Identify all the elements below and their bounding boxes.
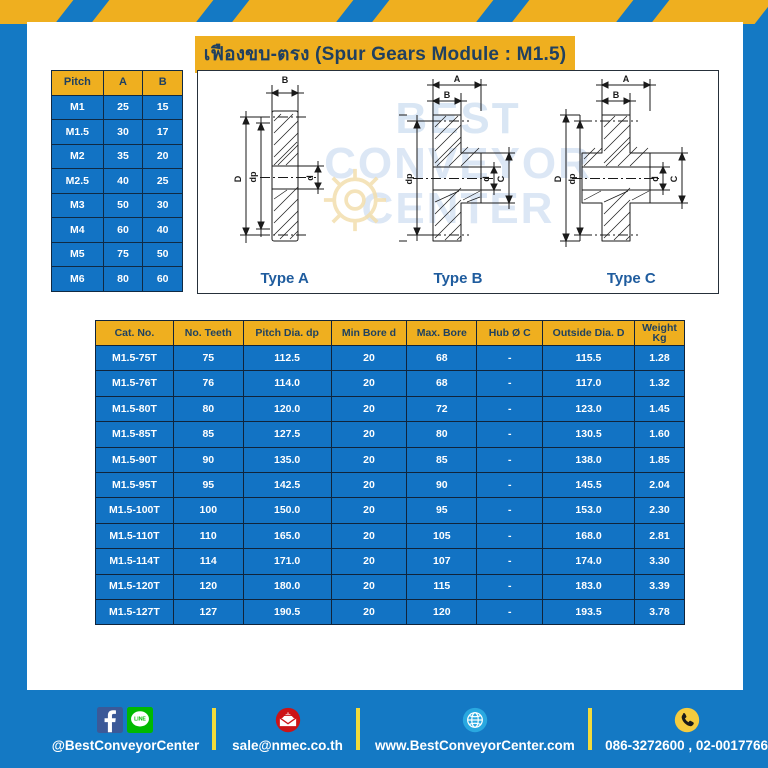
table-row: M1.5-85T 85 127.5 20 80 - 130.5 1.60 bbox=[96, 422, 685, 447]
email-icon[interactable] bbox=[275, 707, 301, 733]
cell-pitch-dia: 114.0 bbox=[243, 371, 331, 396]
pitch-col-a: A bbox=[103, 71, 143, 96]
cell-max-bore: 120 bbox=[407, 599, 477, 624]
table-row: M1.5-114T 114 171.0 20 107 - 174.0 3.30 bbox=[96, 549, 685, 574]
svg-text:B: B bbox=[444, 90, 451, 100]
table-row: M1.5-127T 127 190.5 20 120 - 193.5 3.78 bbox=[96, 599, 685, 624]
cell-outside-dia: 183.0 bbox=[543, 574, 635, 599]
cell-no-teeth: 127 bbox=[173, 599, 243, 624]
col-max-bore: Max. Bore bbox=[407, 321, 477, 346]
cell-min-bore: 20 bbox=[331, 498, 407, 523]
cell-outside-dia: 123.0 bbox=[543, 396, 635, 421]
table-row: M2 35 20 bbox=[52, 144, 183, 169]
cell-min-bore: 20 bbox=[331, 447, 407, 472]
cell-pitch: M2 bbox=[52, 144, 104, 169]
svg-text:D: D bbox=[233, 175, 243, 182]
svg-text:C: C bbox=[669, 175, 679, 182]
col-pitch-dia: Pitch Dia. dp bbox=[243, 321, 331, 346]
spec-header-row: Cat. No. No. Teeth Pitch Dia. dp Min Bor… bbox=[96, 321, 685, 346]
diagram-label-type-a: Type A bbox=[198, 270, 371, 287]
gear-diagram-panel: BEST CONVEYOR CENTER bbox=[197, 70, 719, 294]
website-label[interactable]: www.BestConveyorCenter.com bbox=[375, 738, 575, 753]
cell-pitch: M3 bbox=[52, 193, 104, 218]
diagram-label-type-c: Type C bbox=[545, 270, 718, 287]
cell-max-bore: 90 bbox=[407, 472, 477, 497]
cell-weight: 2.30 bbox=[634, 498, 684, 523]
website-group[interactable]: www.BestConveyorCenter.com bbox=[375, 705, 575, 753]
phone-icons bbox=[674, 705, 700, 735]
table-row: M1.5 30 17 bbox=[52, 120, 183, 145]
spec-table: Cat. No. No. Teeth Pitch Dia. dp Min Bor… bbox=[95, 320, 685, 625]
cell-b: 40 bbox=[143, 218, 183, 243]
cell-weight: 1.32 bbox=[634, 371, 684, 396]
cell-min-bore: 20 bbox=[331, 523, 407, 548]
content-card: เฟืองขบ-ตรง (Spur Gears Module : M1.5) P… bbox=[27, 22, 743, 690]
datasheet-page: เฟืองขบ-ตรง (Spur Gears Module : M1.5) P… bbox=[0, 0, 768, 768]
email-icons bbox=[275, 705, 301, 735]
table-row: M1.5-90T 90 135.0 20 85 - 138.0 1.85 bbox=[96, 447, 685, 472]
cell-a: 80 bbox=[103, 267, 143, 292]
cell-no-teeth: 75 bbox=[173, 346, 243, 371]
col-min-bore: Min Bore d bbox=[331, 321, 407, 346]
table-row: M1.5-75T 75 112.5 20 68 - 115.5 1.28 bbox=[96, 346, 685, 371]
table-row: M1.5-80T 80 120.0 20 72 - 123.0 1.45 bbox=[96, 396, 685, 421]
social-group[interactable]: LINE @BestConveyorCenter bbox=[52, 705, 199, 753]
cell-pitch-dia: 142.5 bbox=[243, 472, 331, 497]
pitch-col-pitch: Pitch bbox=[52, 71, 104, 96]
svg-text:B: B bbox=[281, 75, 288, 85]
table-row: M1.5-76T 76 114.0 20 68 - 117.0 1.32 bbox=[96, 371, 685, 396]
cell-hub-c: - bbox=[477, 396, 543, 421]
cell-weight: 1.28 bbox=[634, 346, 684, 371]
cell-hub-c: - bbox=[477, 523, 543, 548]
cell-weight: 1.60 bbox=[634, 422, 684, 447]
cell-b: 30 bbox=[143, 193, 183, 218]
footer-divider bbox=[356, 708, 360, 750]
cell-a: 60 bbox=[103, 218, 143, 243]
cell-weight: 1.85 bbox=[634, 447, 684, 472]
cell-cat-no: M1.5-100T bbox=[96, 498, 174, 523]
cell-cat-no: M1.5-75T bbox=[96, 346, 174, 371]
svg-text:dp: dp bbox=[248, 171, 258, 182]
cell-b: 60 bbox=[143, 267, 183, 292]
table-row: M2.5 40 25 bbox=[52, 169, 183, 194]
cell-cat-no: M1.5-110T bbox=[96, 523, 174, 548]
cell-hub-c: - bbox=[477, 498, 543, 523]
upper-section: Pitch A B M1 25 15 M1.5 30 17 bbox=[51, 70, 719, 298]
cell-no-teeth: 76 bbox=[173, 371, 243, 396]
spec-table-wrap: Cat. No. No. Teeth Pitch Dia. dp Min Bor… bbox=[95, 320, 685, 625]
phone-group[interactable]: 086-3272600 , 02-0017766 bbox=[605, 705, 768, 753]
cell-max-bore: 68 bbox=[407, 371, 477, 396]
cell-min-bore: 20 bbox=[331, 371, 407, 396]
cell-max-bore: 115 bbox=[407, 574, 477, 599]
cell-min-bore: 20 bbox=[331, 574, 407, 599]
cell-pitch-dia: 135.0 bbox=[243, 447, 331, 472]
cell-min-bore: 20 bbox=[331, 422, 407, 447]
cell-min-bore: 20 bbox=[331, 599, 407, 624]
svg-text:d: d bbox=[305, 175, 315, 181]
globe-icon[interactable] bbox=[462, 707, 488, 733]
cell-b: 25 bbox=[143, 169, 183, 194]
cell-cat-no: M1.5-127T bbox=[96, 599, 174, 624]
facebook-icon[interactable] bbox=[97, 707, 123, 733]
cell-cat-no: M1.5-85T bbox=[96, 422, 174, 447]
col-cat-no: Cat. No. bbox=[96, 321, 174, 346]
cell-min-bore: 20 bbox=[331, 396, 407, 421]
cell-no-teeth: 85 bbox=[173, 422, 243, 447]
table-row: M1 25 15 bbox=[52, 95, 183, 120]
cell-pitch: M5 bbox=[52, 242, 104, 267]
cell-cat-no: M1.5-80T bbox=[96, 396, 174, 421]
cell-weight: 1.45 bbox=[634, 396, 684, 421]
cell-cat-no: M1.5-120T bbox=[96, 574, 174, 599]
col-outside-dia: Outside Dia. D bbox=[543, 321, 635, 346]
cell-pitch: M6 bbox=[52, 267, 104, 292]
table-row: M6 80 60 bbox=[52, 267, 183, 292]
table-row: M1.5-110T 110 165.0 20 105 - 168.0 2.81 bbox=[96, 523, 685, 548]
table-row: M1.5-95T 95 142.5 20 90 - 145.5 2.04 bbox=[96, 472, 685, 497]
cell-min-bore: 20 bbox=[331, 549, 407, 574]
cell-cat-no: M1.5-76T bbox=[96, 371, 174, 396]
cell-outside-dia: 174.0 bbox=[543, 549, 635, 574]
cell-cat-no: M1.5-114T bbox=[96, 549, 174, 574]
cell-weight: 3.30 bbox=[634, 549, 684, 574]
diagram-type-c: A B bbox=[545, 71, 718, 293]
cell-pitch: M1 bbox=[52, 95, 104, 120]
pitch-header-row: Pitch A B bbox=[52, 71, 183, 96]
cell-weight: 2.81 bbox=[634, 523, 684, 548]
footer-divider bbox=[212, 708, 216, 750]
diagram-type-b: A B bbox=[371, 71, 544, 293]
cell-no-teeth: 100 bbox=[173, 498, 243, 523]
cell-a: 35 bbox=[103, 144, 143, 169]
cell-pitch: M2.5 bbox=[52, 169, 104, 194]
cell-max-bore: 107 bbox=[407, 549, 477, 574]
svg-text:dp: dp bbox=[404, 173, 414, 184]
cell-max-bore: 80 bbox=[407, 422, 477, 447]
cell-outside-dia: 168.0 bbox=[543, 523, 635, 548]
cell-min-bore: 20 bbox=[331, 472, 407, 497]
cell-a: 30 bbox=[103, 120, 143, 145]
svg-text:LINE: LINE bbox=[135, 716, 147, 722]
cell-max-bore: 68 bbox=[407, 346, 477, 371]
cell-pitch-dia: 127.5 bbox=[243, 422, 331, 447]
cell-hub-c: - bbox=[477, 549, 543, 574]
cell-max-bore: 85 bbox=[407, 447, 477, 472]
svg-text:dp: dp bbox=[567, 173, 577, 184]
cell-no-teeth: 114 bbox=[173, 549, 243, 574]
cell-weight: 3.39 bbox=[634, 574, 684, 599]
cell-no-teeth: 95 bbox=[173, 472, 243, 497]
top-chevron-decoration bbox=[0, 0, 768, 24]
cell-no-teeth: 90 bbox=[173, 447, 243, 472]
diagram-label-type-b: Type B bbox=[371, 270, 544, 287]
col-weight: Weight Kg bbox=[634, 321, 684, 346]
svg-text:D: D bbox=[553, 175, 563, 182]
cell-outside-dia: 115.5 bbox=[543, 346, 635, 371]
line-icon[interactable]: LINE bbox=[127, 707, 153, 733]
cell-pitch-dia: 180.0 bbox=[243, 574, 331, 599]
cell-b: 50 bbox=[143, 242, 183, 267]
cell-hub-c: - bbox=[477, 346, 543, 371]
table-row: M5 75 50 bbox=[52, 242, 183, 267]
cell-outside-dia: 130.5 bbox=[543, 422, 635, 447]
svg-text:C: C bbox=[496, 175, 506, 182]
cell-cat-no: M1.5-95T bbox=[96, 472, 174, 497]
cell-no-teeth: 80 bbox=[173, 396, 243, 421]
cell-weight: 3.78 bbox=[634, 599, 684, 624]
cell-pitch-dia: 150.0 bbox=[243, 498, 331, 523]
page-title: เฟืองขบ-ตรง (Spur Gears Module : M1.5) bbox=[195, 36, 576, 73]
cell-hub-c: - bbox=[477, 422, 543, 447]
phone-label[interactable]: 086-3272600 , 02-0017766 bbox=[605, 738, 768, 753]
cell-pitch: M1.5 bbox=[52, 120, 104, 145]
pitch-table: Pitch A B M1 25 15 M1.5 30 17 bbox=[51, 70, 183, 292]
page-title-wrap: เฟืองขบ-ตรง (Spur Gears Module : M1.5) bbox=[27, 36, 743, 73]
col-hub-c: Hub Ø C bbox=[477, 321, 543, 346]
cell-pitch-dia: 120.0 bbox=[243, 396, 331, 421]
cell-a: 40 bbox=[103, 169, 143, 194]
cell-pitch-dia: 165.0 bbox=[243, 523, 331, 548]
contact-footer: LINE @BestConveyorCenter sale@nmec.co.th bbox=[0, 690, 768, 768]
cell-b: 17 bbox=[143, 120, 183, 145]
cell-outside-dia: 138.0 bbox=[543, 447, 635, 472]
cell-outside-dia: 145.5 bbox=[543, 472, 635, 497]
svg-text:d: d bbox=[650, 176, 660, 182]
svg-text:B: B bbox=[613, 90, 620, 100]
cell-hub-c: - bbox=[477, 472, 543, 497]
pitch-col-b: B bbox=[143, 71, 183, 96]
footer-divider bbox=[588, 708, 592, 750]
cell-a: 75 bbox=[103, 242, 143, 267]
cell-b: 15 bbox=[143, 95, 183, 120]
cell-pitch: M4 bbox=[52, 218, 104, 243]
cell-max-bore: 105 bbox=[407, 523, 477, 548]
cell-outside-dia: 117.0 bbox=[543, 371, 635, 396]
email-group[interactable]: sale@nmec.co.th bbox=[232, 705, 343, 753]
cell-b: 20 bbox=[143, 144, 183, 169]
table-row: M1.5-100T 100 150.0 20 95 - 153.0 2.30 bbox=[96, 498, 685, 523]
social-icons: LINE bbox=[97, 705, 153, 735]
cell-a: 50 bbox=[103, 193, 143, 218]
cell-cat-no: M1.5-90T bbox=[96, 447, 174, 472]
cell-no-teeth: 110 bbox=[173, 523, 243, 548]
table-row: M3 50 30 bbox=[52, 193, 183, 218]
cell-max-bore: 95 bbox=[407, 498, 477, 523]
cell-pitch-dia: 190.5 bbox=[243, 599, 331, 624]
cell-hub-c: - bbox=[477, 371, 543, 396]
table-row: M4 60 40 bbox=[52, 218, 183, 243]
cell-a: 25 bbox=[103, 95, 143, 120]
cell-pitch-dia: 112.5 bbox=[243, 346, 331, 371]
cell-outside-dia: 153.0 bbox=[543, 498, 635, 523]
cell-hub-c: - bbox=[477, 574, 543, 599]
email-label[interactable]: sale@nmec.co.th bbox=[232, 738, 343, 753]
cell-max-bore: 72 bbox=[407, 396, 477, 421]
cell-weight: 2.04 bbox=[634, 472, 684, 497]
diagram-type-a: B bbox=[198, 71, 371, 293]
social-handle-label[interactable]: @BestConveyorCenter bbox=[52, 738, 199, 753]
svg-text:A: A bbox=[623, 74, 630, 84]
svg-text:d: d bbox=[481, 176, 491, 182]
svg-text:A: A bbox=[454, 74, 461, 84]
cell-pitch-dia: 171.0 bbox=[243, 549, 331, 574]
cell-hub-c: - bbox=[477, 599, 543, 624]
cell-outside-dia: 193.5 bbox=[543, 599, 635, 624]
website-icons bbox=[462, 705, 488, 735]
phone-icon[interactable] bbox=[674, 707, 700, 733]
col-no-teeth: No. Teeth bbox=[173, 321, 243, 346]
table-row: M1.5-120T 120 180.0 20 115 - 183.0 3.39 bbox=[96, 574, 685, 599]
cell-no-teeth: 120 bbox=[173, 574, 243, 599]
cell-hub-c: - bbox=[477, 447, 543, 472]
cell-min-bore: 20 bbox=[331, 346, 407, 371]
